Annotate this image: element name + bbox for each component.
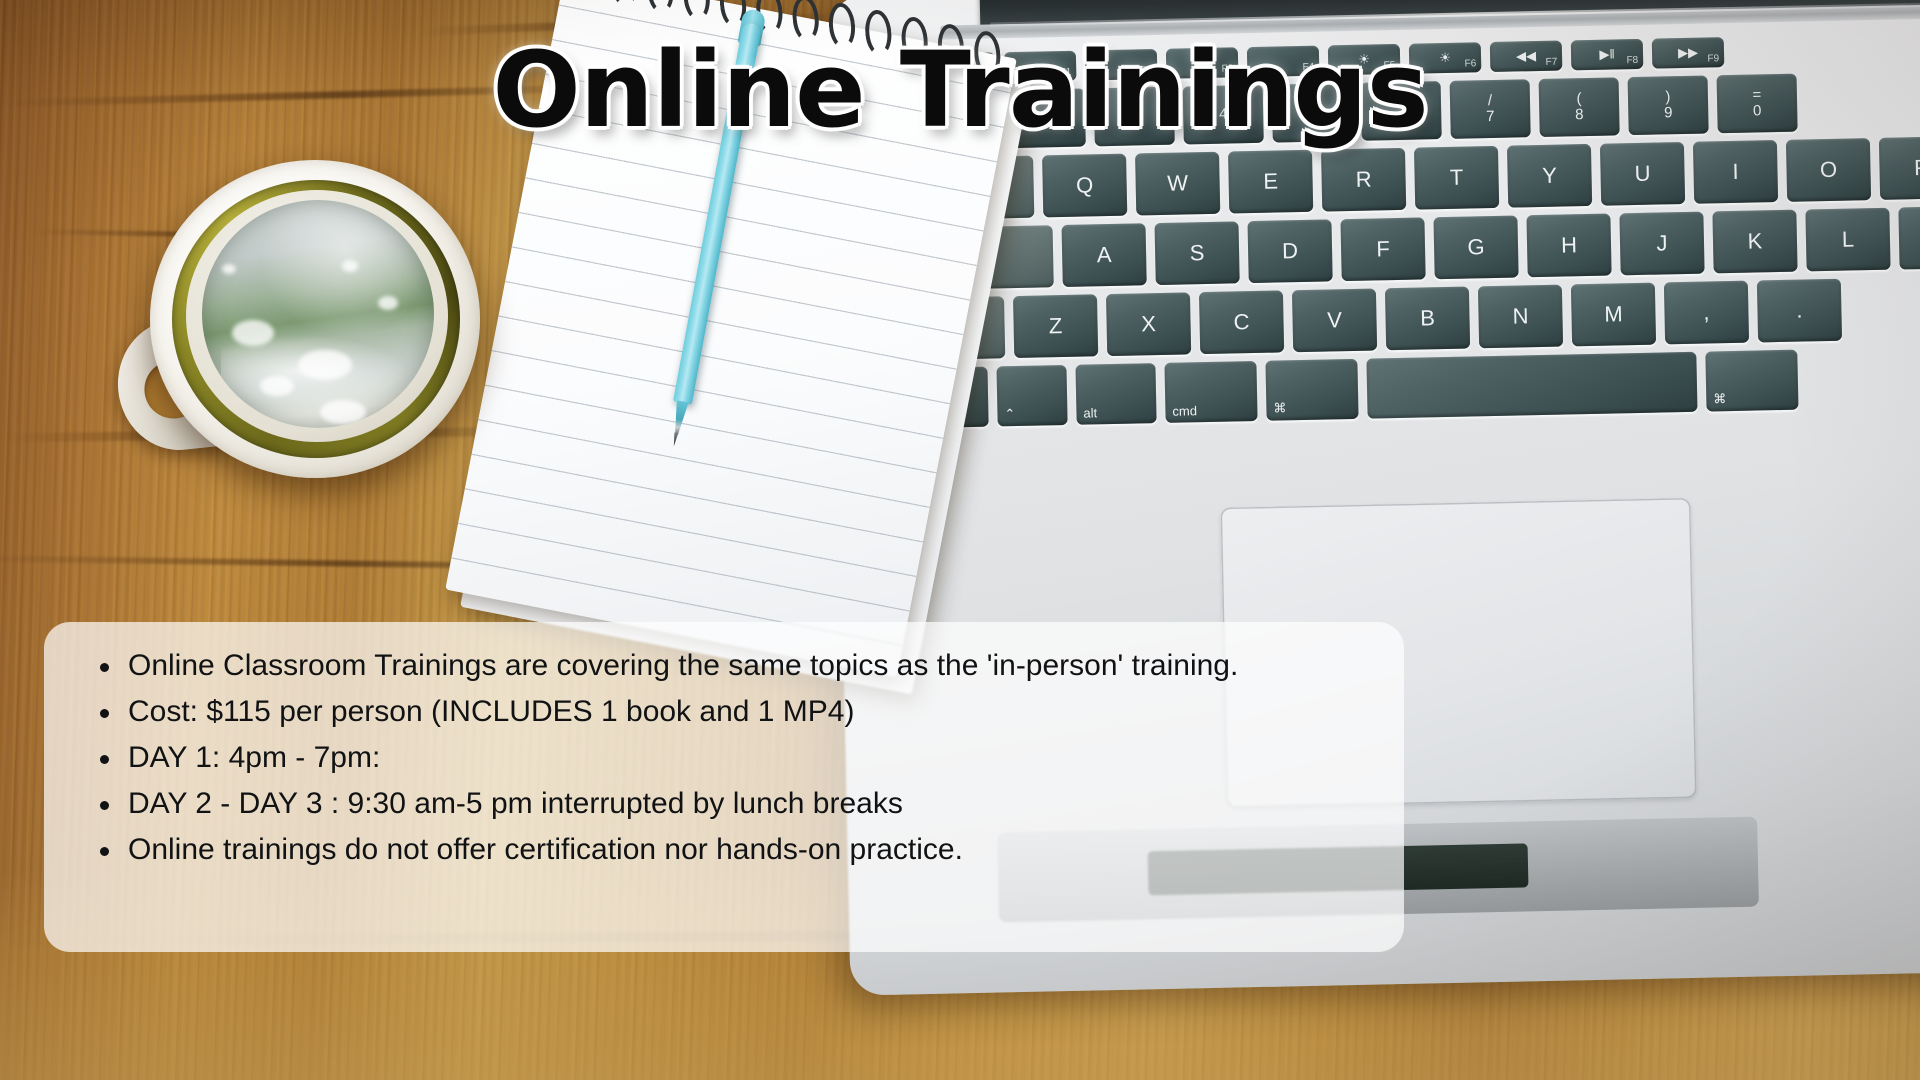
info-panel: Online Classroom Trainings are covering … [44,622,1404,952]
bullet-item: Cost: $115 per person (INCLUDES 1 book a… [88,690,1364,734]
poster-canvas: escF1F2F3F4☀F5☀F6◀◀F7▶‖F8▶▶F9 ”1234%5&6/… [0,0,1920,1080]
page-title: Online Trainings [0,36,1920,145]
bullet-item: DAY 1: 4pm - 7pm: [88,736,1364,780]
bullet-item: DAY 2 - DAY 3 : 9:30 am-5 pm interrupted… [88,782,1364,826]
bullet-item: Online Classroom Trainings are covering … [88,644,1364,688]
bullet-list: Online Classroom Trainings are covering … [88,644,1364,872]
bullet-item: Online trainings do not offer certificat… [88,828,1364,872]
